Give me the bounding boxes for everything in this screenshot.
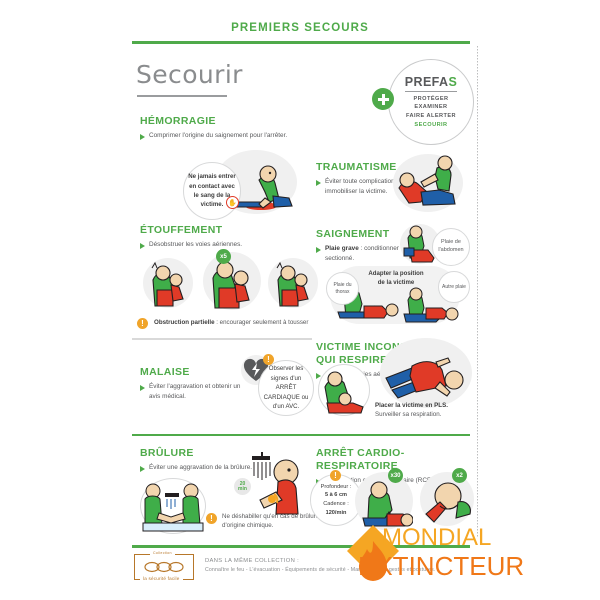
illustration-brulure-main: [140, 478, 206, 534]
bullet-triangle-icon: [316, 180, 321, 186]
divider-bottom-sections: [132, 434, 470, 436]
note-pls: Placer la victime en PLS.Surveiller sa r…: [375, 401, 483, 420]
prefas-word: PREFAS: [405, 75, 457, 89]
note-etouffement: Obstruction partielle : encourager seule…: [154, 318, 314, 327]
header-rule: [132, 41, 470, 44]
page-title-underline: [137, 95, 227, 97]
prefas-step-examiner: EXAMINER: [414, 103, 447, 112]
badge-x30: x30: [388, 468, 403, 483]
illustration-insufflations: [420, 472, 474, 526]
note-strong: Placer la victime en PLS.: [375, 402, 448, 409]
page-title: Secourir: [136, 60, 243, 89]
illustration-pls-detail: [318, 364, 370, 416]
prefas-word-main: PREFA: [405, 75, 449, 89]
prefas-step-faire-alerter: FAIRE ALERTER: [406, 112, 456, 121]
section-etouffement: ÉTOUFFEMENT Désobstruer les voies aérien…: [140, 224, 300, 250]
medical-cross-icon: [372, 88, 394, 110]
prefas-step-proteger: PROTÉGER: [414, 95, 449, 104]
divider-left-mid: [132, 338, 312, 340]
prefas-step-secourir: SECOURIR: [414, 121, 447, 130]
label-plaie-thorax: Plaie du thorax: [326, 272, 359, 305]
section-malaise: MALAISE Éviter l'aggravation et obtenir …: [140, 366, 250, 401]
bullet-triangle-icon: [140, 385, 145, 391]
bullet-text: Éviter l'aggravation et obtenir un avis …: [149, 382, 250, 401]
bullet-triangle-icon: [140, 466, 145, 472]
watermark-line2: EXTINCTEUR: [358, 551, 524, 582]
illustration-traumatisme: [393, 154, 463, 212]
prefas-divider: [405, 91, 457, 92]
bullet-triangle-icon: [140, 243, 145, 249]
illustration-etouffement-1: [143, 258, 193, 308]
callout-malaise: Observer les signes d'un ARRÊT CARDIAQUE…: [258, 360, 314, 416]
badge-x5: x5: [216, 249, 231, 264]
info-icon-brulure: !: [206, 513, 217, 524]
note-strong: Obstruction partielle: [154, 319, 215, 326]
chain-icon: [143, 561, 185, 573]
bullet-text: Désobstruer les voies aériennes.: [149, 240, 242, 250]
bullet-triangle-icon: [316, 247, 321, 253]
note-rest: Surveiller sa respiration.: [375, 411, 441, 418]
section-bullet: Comprimer l'origine du saignement pour l…: [140, 131, 290, 141]
section-bullet: Désobstruer les voies aériennes.: [140, 240, 300, 250]
rcp-rate-value: 120/min: [326, 509, 347, 518]
section-title: HÉMORRAGIE: [140, 115, 290, 128]
collection-label-top: Collection: [150, 551, 175, 555]
bullet-strong: Plaie grave: [325, 245, 359, 252]
illustration-pls: [380, 338, 472, 408]
no-blood-contact-icon: ✋: [226, 196, 239, 209]
section-hemorragie: HÉMORRAGIE Comprimer l'origine du saigne…: [140, 115, 290, 141]
badge-duration: 20 min: [234, 478, 251, 495]
section-bullet: Éviter l'aggravation et obtenir un avis …: [140, 382, 250, 401]
callout-hemorragie: Ne jamais entrer en contact avec le sang…: [183, 162, 241, 220]
poster-kicker: PREMIERS SECOURS: [130, 22, 470, 34]
bullet-text: Comprimer l'origine du saignement pour l…: [149, 131, 287, 141]
note-rest: : encourager seulement à tousser: [215, 319, 309, 326]
rcp-depth-value: 5 à 6 cm: [325, 491, 347, 500]
watermark-line1: MONDIAL: [382, 524, 491, 552]
note-brulure: Ne déshabiller qu'en cas de brûlure d'or…: [222, 512, 322, 531]
prefas-badge: PREFAS PROTÉGER EXAMINER FAIRE ALERTER S…: [388, 59, 474, 145]
badge-duration-unit: min: [238, 487, 247, 492]
callout-text: Observer les signes d'un ARRÊT CARDIAQUE…: [263, 364, 309, 411]
illustration-etouffement-3: [268, 258, 318, 308]
poster-page: PREMIERS SECOURS Secourir PREFAS PROTÉGE…: [0, 0, 600, 600]
illustration-etouffement-2: [203, 252, 261, 310]
section-title: MALAISE: [140, 366, 250, 379]
label-adapter-position: Adapter la position de la victime: [362, 262, 430, 296]
rcp-depth-label: Profondeur :: [321, 483, 352, 492]
info-icon-rcp: !: [330, 470, 341, 481]
info-icon-malaise: !: [263, 354, 274, 365]
info-icon-etouffement: !: [137, 318, 148, 329]
label-autre-plaie: Autre plaie: [438, 271, 470, 303]
bullet-triangle-icon: [140, 134, 145, 140]
collection-label-bottom: la sécurité facile: [140, 576, 183, 581]
label-plaie-abdomen: Plaie de l'abdomen: [432, 228, 470, 266]
badge-x2: x2: [452, 468, 467, 483]
section-title: ÉTOUFFEMENT: [140, 224, 300, 237]
footer-heading: DANS LA MÊME COLLECTION :: [205, 558, 299, 564]
rcp-rate-label: Cadence :: [323, 500, 349, 509]
fold-dotted-line: [477, 46, 478, 538]
prefas-word-accent: S: [448, 75, 457, 89]
